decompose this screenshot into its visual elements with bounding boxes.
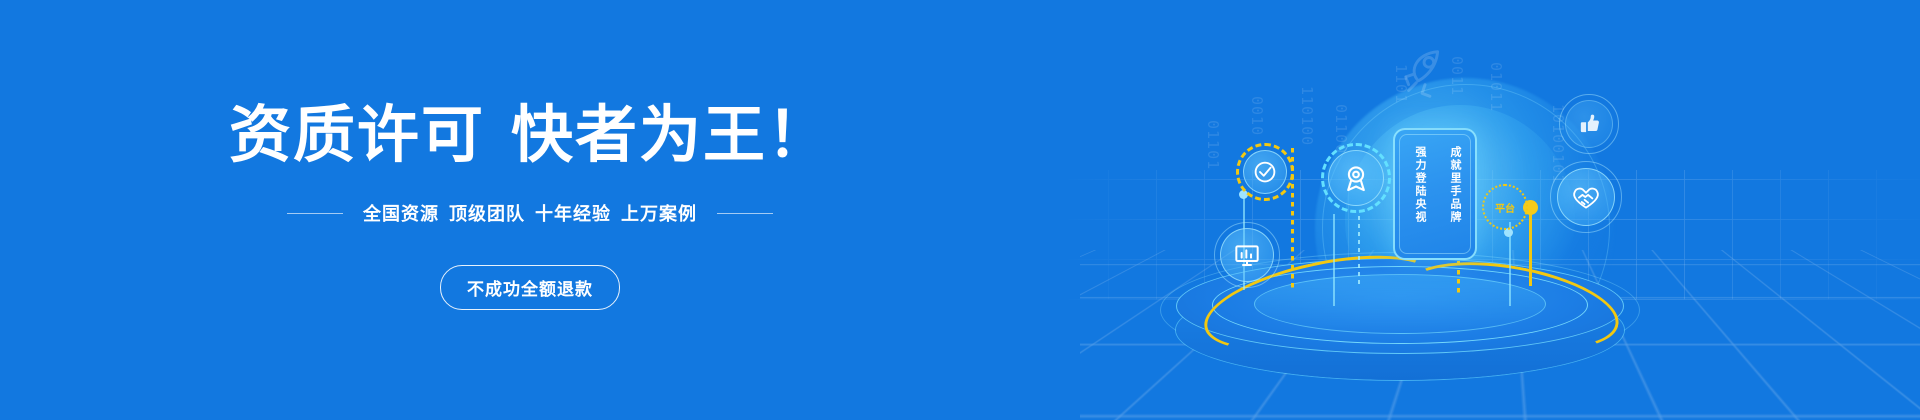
page-title: 资质许可快者为王！ xyxy=(0,103,1060,168)
marker-pole xyxy=(1333,214,1335,306)
cta-wrapper: 不成功全额退款 xyxy=(0,265,1060,310)
headline-part-1: 资质许可 xyxy=(229,101,485,170)
subtitle: 全国资源顶级团队十年经验上万案例 xyxy=(363,200,697,226)
marker-pole-yellow xyxy=(1529,214,1532,286)
binary-text: 01101 xyxy=(1204,120,1222,170)
monitor-chart-icon xyxy=(1220,228,1274,282)
thumbs-up-icon xyxy=(1565,100,1613,148)
subtitle-divider-left xyxy=(287,213,343,214)
platform-tag-label: 平台 xyxy=(1495,200,1515,215)
headline-part-2: 快者为王！ xyxy=(511,101,831,170)
promo-banner: 0010 110100 01100 0011 01011 10100101 11… xyxy=(0,0,1920,420)
rocket-icon xyxy=(1395,42,1457,104)
dotted-connector xyxy=(1358,216,1360,286)
refund-guarantee-button[interactable]: 不成功全额退款 xyxy=(440,265,620,310)
copy-block: 资质许可快者为王！ 全国资源顶级团队十年经验上万案例 不成功全额退款 xyxy=(0,0,1060,420)
award-ribbon-icon xyxy=(1328,150,1384,206)
subtitle-divider-right xyxy=(717,213,773,214)
tablet-text-right: 成就里手品牌 xyxy=(1449,146,1460,224)
subtitle-item-0: 全国资源 xyxy=(363,204,439,224)
tablet-text-left: 强力登陆央视 xyxy=(1414,146,1425,224)
subtitle-item-2: 十年经验 xyxy=(535,204,611,224)
handshake-heart-icon xyxy=(1557,168,1615,226)
binary-text: 110100 xyxy=(1298,86,1316,146)
platform-tag-badge: 平台 xyxy=(1482,184,1528,230)
subtitle-item-3: 上万案例 xyxy=(621,204,697,224)
subtitle-item-1: 顶级团队 xyxy=(449,204,525,224)
subtitle-row: 全国资源顶级团队十年经验上万案例 xyxy=(0,200,1060,226)
binary-text: 01011 xyxy=(1487,62,1505,112)
check-circle-icon xyxy=(1243,150,1287,194)
binary-text: 0010 xyxy=(1248,96,1266,136)
